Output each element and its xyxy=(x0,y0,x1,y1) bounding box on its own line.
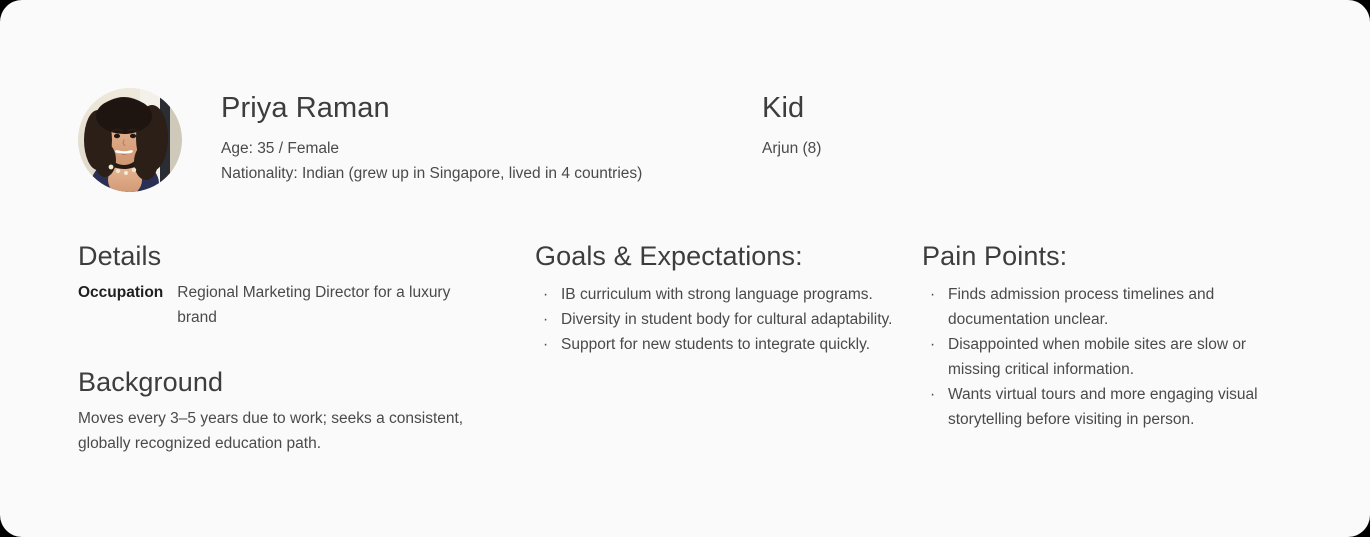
bullet-dot-icon: · xyxy=(543,307,548,332)
pain-point-item: ·Wants virtual tours and more engaging v… xyxy=(922,382,1292,432)
pain-point-item-label: Disappointed when mobile sites are slow … xyxy=(948,336,1246,378)
kid-meta: Arjun (8) xyxy=(762,137,1062,162)
bullet-dot-icon: · xyxy=(930,332,935,357)
goal-item: ·Support for new students to integrate q… xyxy=(535,332,905,357)
bullet-dot-icon: · xyxy=(543,332,548,357)
bullet-dot-icon: · xyxy=(543,282,548,307)
bullet-dot-icon: · xyxy=(930,382,935,407)
goal-item-label: IB curriculum with strong language progr… xyxy=(561,286,873,303)
age-line: Age: 35 / Female xyxy=(221,137,781,162)
background-heading: Background xyxy=(78,364,518,400)
goals-heading: Goals & Expectations: xyxy=(535,238,905,274)
persona-card: Priya Raman Age: 35 / Female Nationality… xyxy=(0,0,1370,537)
details-column: Details Occupation Regional Marketing Di… xyxy=(78,238,518,456)
pain-point-item-label: Finds admission process timelines and do… xyxy=(948,286,1214,328)
pain-point-item: ·Finds admission process timelines and d… xyxy=(922,282,1292,332)
occupation-label: Occupation xyxy=(78,280,163,305)
kid-heading: Kid xyxy=(762,88,1062,128)
nationality-line: Nationality: Indian (grew up in Singapor… xyxy=(221,162,781,187)
occupation-value: Regional Marketing Director for a luxury… xyxy=(177,280,477,330)
details-heading: Details xyxy=(78,238,518,274)
goal-item: ·Diversity in student body for cultural … xyxy=(535,307,905,332)
background-section: Background Moves every 3–5 years due to … xyxy=(78,364,518,456)
pain-point-item-label: Wants virtual tours and more engaging vi… xyxy=(948,386,1258,428)
kid-value: Arjun (8) xyxy=(762,137,1062,162)
goal-item-label: Diversity in student body for cultural a… xyxy=(561,311,892,328)
bullet-dot-icon: · xyxy=(930,282,935,307)
avatar-photo-icon xyxy=(78,88,182,192)
background-text: Moves every 3–5 years due to work; seeks… xyxy=(78,406,510,456)
page-title: Priya Raman xyxy=(221,88,781,128)
pain-points-list: ·Finds admission process timelines and d… xyxy=(922,282,1292,432)
pain-point-item: ·Disappointed when mobile sites are slow… xyxy=(922,332,1292,382)
goals-column: Goals & Expectations: ·IB curriculum wit… xyxy=(535,238,905,357)
persona-header: Priya Raman Age: 35 / Female Nationality… xyxy=(78,88,1292,198)
identity-meta: Age: 35 / Female Nationality: Indian (gr… xyxy=(221,137,781,186)
pain-points-column: Pain Points: ·Finds admission process ti… xyxy=(922,238,1292,432)
kid-block: Kid Arjun (8) xyxy=(762,88,1062,162)
pain-points-heading: Pain Points: xyxy=(922,238,1292,274)
avatar xyxy=(78,88,182,192)
occupation-row: Occupation Regional Marketing Director f… xyxy=(78,280,518,330)
goals-list: ·IB curriculum with strong language prog… xyxy=(535,282,905,357)
goal-item: ·IB curriculum with strong language prog… xyxy=(535,282,905,307)
goal-item-label: Support for new students to integrate qu… xyxy=(561,336,870,353)
identity-block: Priya Raman Age: 35 / Female Nationality… xyxy=(221,88,781,186)
